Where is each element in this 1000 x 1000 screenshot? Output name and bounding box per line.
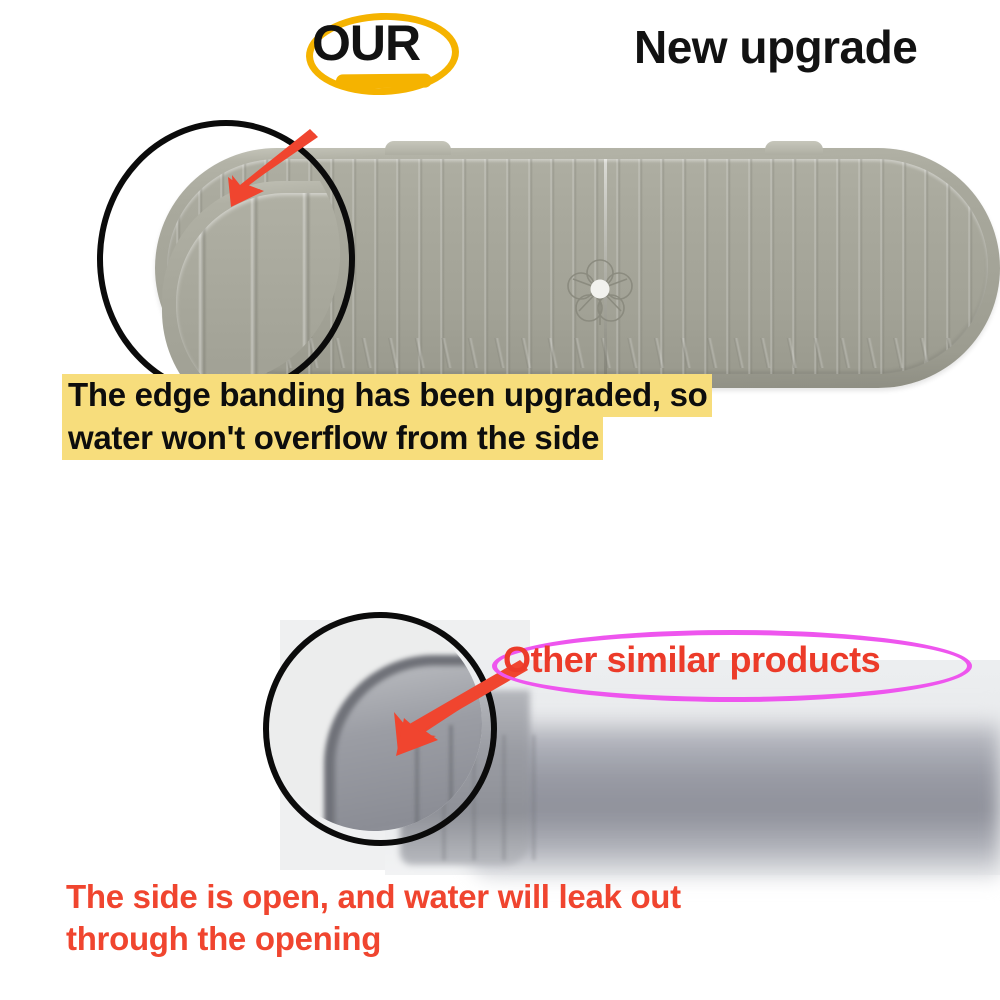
upgrade-caption-line-2: water won't overflow from the side	[62, 417, 603, 460]
upgrade-caption: The edge banding has been upgraded, so w…	[62, 374, 962, 460]
flower-drain-icon	[565, 253, 635, 325]
leak-caption-line-1: The side is open, and water will leak ou…	[66, 876, 966, 918]
other-products-label: Other similar products	[503, 638, 880, 682]
competitor-product-blurred	[470, 710, 1000, 880]
mat-top-bump-left	[385, 141, 451, 155]
top-arrow-icon	[198, 127, 328, 217]
leak-caption-line-2: through the opening	[66, 918, 966, 960]
top-product-image	[0, 55, 1000, 355]
upgrade-caption-line-1: The edge banding has been upgraded, so	[62, 374, 712, 417]
our-heading: OUR	[312, 18, 420, 68]
leak-caption: The side is open, and water will leak ou…	[66, 876, 966, 960]
new-upgrade-heading: New upgrade	[634, 24, 917, 70]
mat-top-bump-right	[765, 141, 823, 155]
